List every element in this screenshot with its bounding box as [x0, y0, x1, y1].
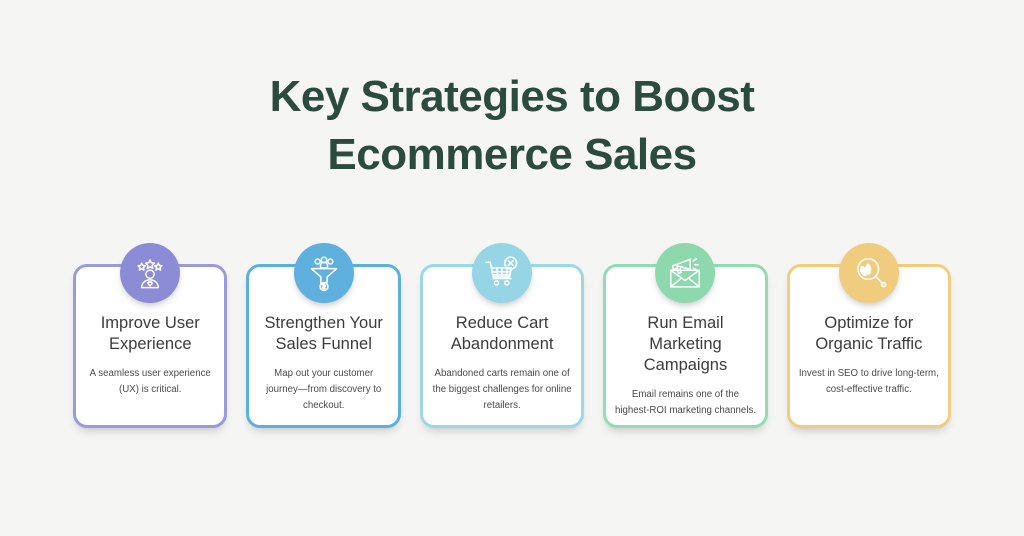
strategy-card-reduce-cart-abandonment: Reduce Cart Abandonment Abandoned carts …	[420, 264, 584, 428]
strategy-card-strengthen-sales-funnel: Strengthen Your Sales Funnel Map out you…	[246, 264, 400, 428]
page-title: Key Strategies to Boost Ecommerce Sales	[270, 68, 755, 184]
cart-remove-icon	[472, 243, 532, 303]
strategy-card-improve-user-experience: Improve User Experience A seamless user …	[73, 264, 227, 428]
strategy-card-title: Strengthen Your Sales Funnel	[254, 313, 392, 355]
page-title-line-2: Ecommerce Sales	[270, 126, 755, 184]
strategy-card-run-email-marketing: Run Email Marketing Campaigns Email rema…	[603, 264, 767, 428]
seo-leaf-magnifier-icon	[839, 243, 899, 303]
user-stars-heart-icon	[120, 243, 180, 303]
strategy-card-title: Run Email Marketing Campaigns	[611, 313, 759, 376]
strategy-card-title: Improve User Experience	[81, 313, 219, 355]
strategy-card-body: A seamless user experience (UX) is criti…	[81, 366, 219, 398]
strategy-card-body: Email remains one of the highest-ROI mar…	[611, 387, 759, 419]
strategy-card-optimize-organic-traffic: Optimize for Organic Traffic Invest in S…	[787, 264, 951, 428]
infographic-canvas: Key Strategies to Boost Ecommerce Sales …	[0, 0, 1024, 536]
sales-funnel-icon	[294, 243, 354, 303]
strategy-card-title: Optimize for Organic Traffic	[795, 313, 943, 355]
page-title-line-1: Key Strategies to Boost	[270, 68, 755, 126]
strategy-card-body: Abandoned carts remain one of the bigges…	[428, 366, 576, 414]
email-megaphone-icon	[655, 243, 715, 303]
strategy-card-title: Reduce Cart Abandonment	[428, 313, 576, 355]
strategy-cards-row: Improve User Experience A seamless user …	[73, 264, 951, 428]
strategy-card-body: Invest in SEO to drive long-term, cost-e…	[795, 366, 943, 398]
strategy-card-body: Map out your customer journey—from disco…	[254, 366, 392, 414]
